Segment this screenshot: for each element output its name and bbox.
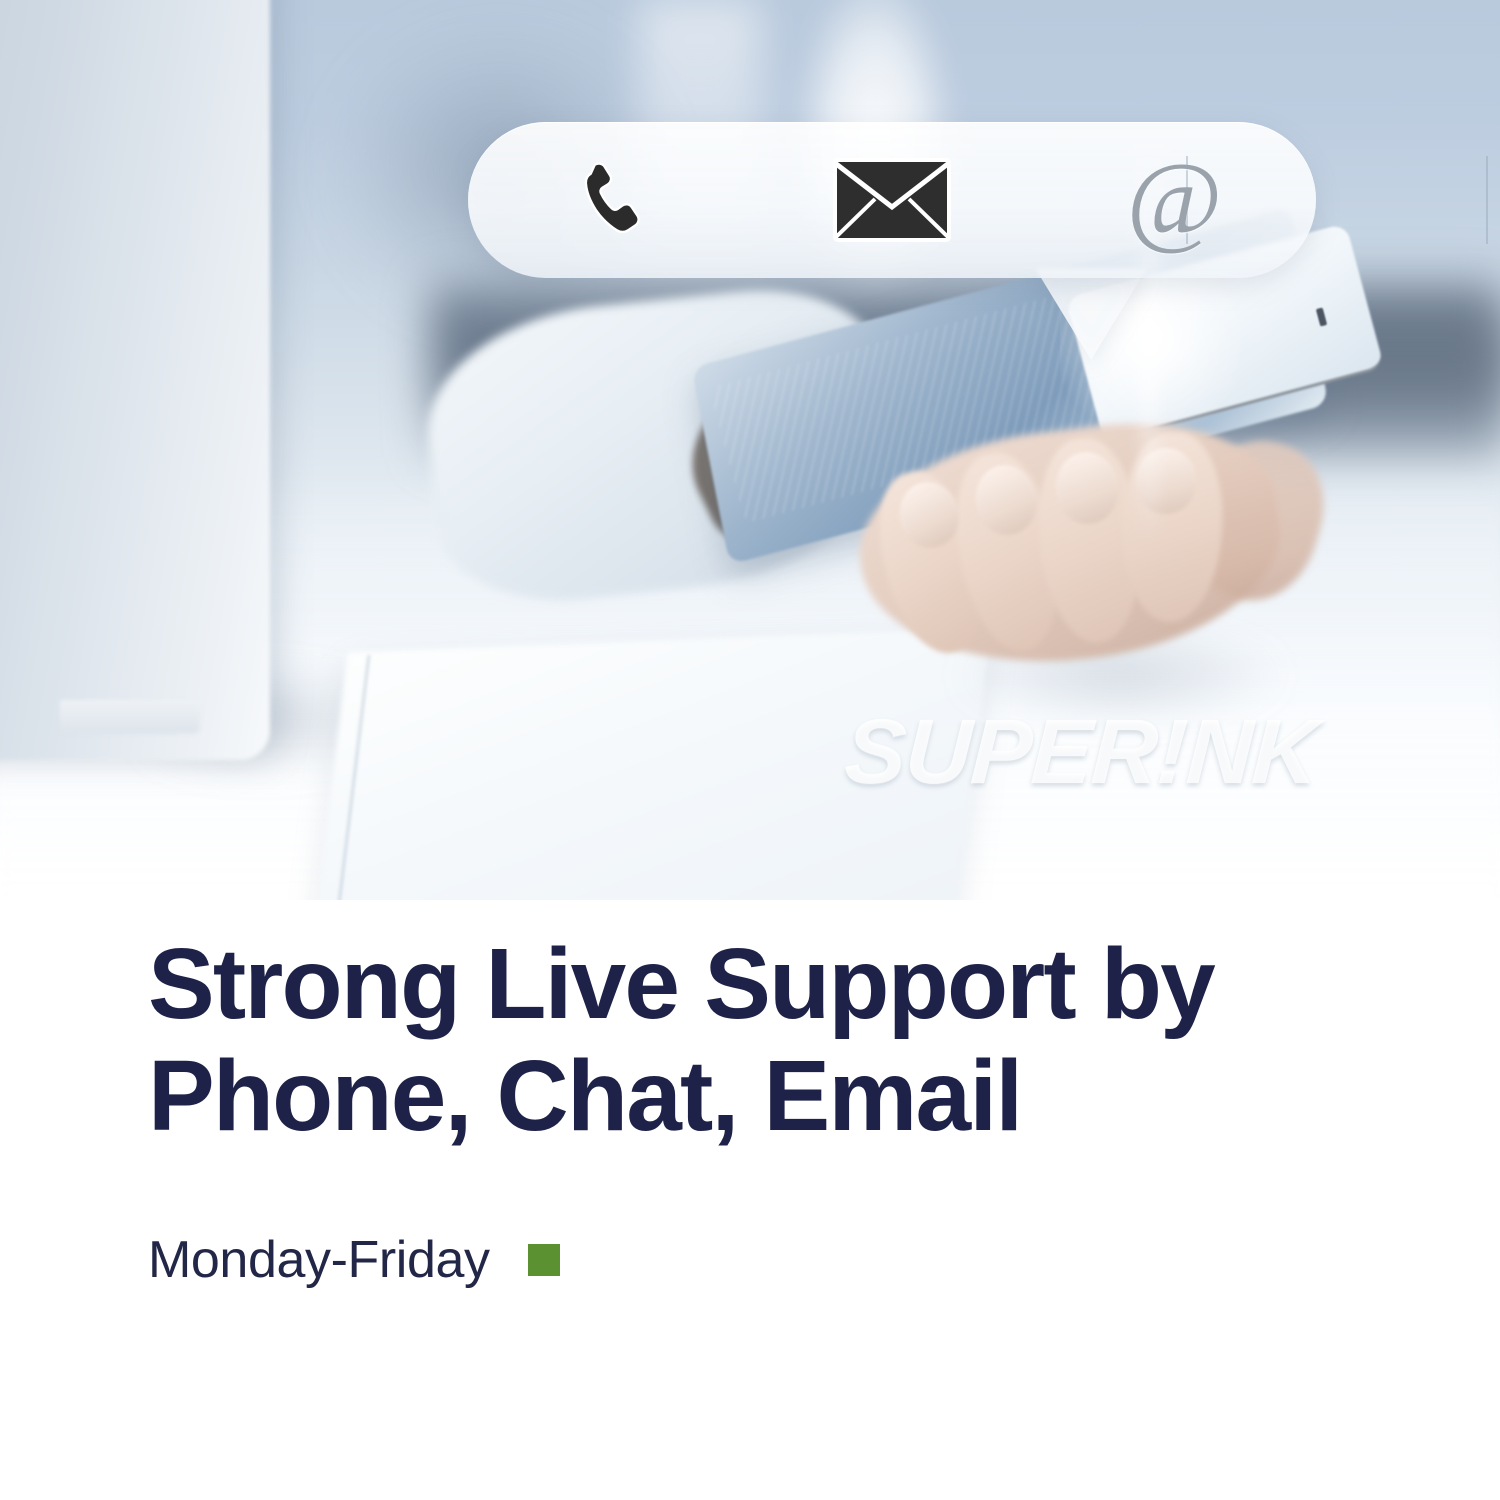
speech-bubble-tail xyxy=(1035,268,1147,360)
contact-icon-bar[interactable]: @ xyxy=(468,122,1316,278)
brand-watermark: SUPER!NK xyxy=(842,700,1320,805)
page-title: Strong Live Support by Phone, Chat, Emai… xyxy=(148,928,1288,1152)
contact-option-at[interactable]: @ xyxy=(1033,122,1316,278)
icon-divider xyxy=(1486,156,1488,244)
availability-label: Monday-Friday xyxy=(148,1230,490,1290)
contact-option-email[interactable] xyxy=(751,122,1034,278)
laptop-lid xyxy=(0,0,270,760)
text-block: Strong Live Support by Phone, Chat, Emai… xyxy=(148,928,1368,1290)
phone-icon xyxy=(561,152,657,248)
laptop-foot xyxy=(60,700,200,734)
at-icon: @ xyxy=(1127,148,1223,252)
support-banner: SUPER!NK xyxy=(0,0,1500,1500)
accent-square xyxy=(528,1244,560,1276)
email-icon xyxy=(831,154,953,246)
subtitle-row: Monday-Friday xyxy=(148,1230,1368,1290)
contact-option-phone[interactable] xyxy=(468,122,751,278)
